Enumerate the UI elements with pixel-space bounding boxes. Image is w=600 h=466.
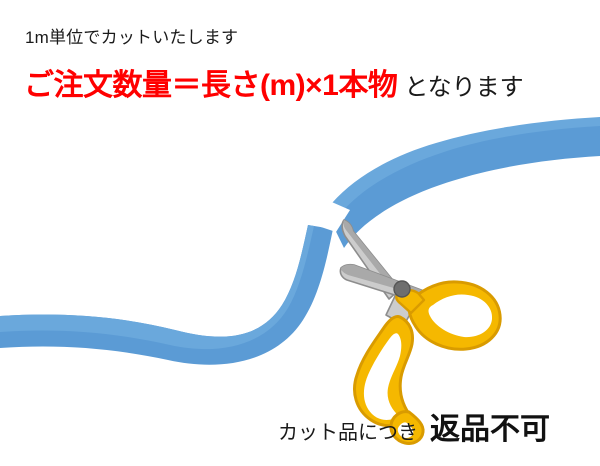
footer-emphasis: 返品不可 [430, 413, 550, 446]
footer-prefix: カット品につき [278, 422, 418, 444]
footer-note: カット品につき返品不可 [278, 412, 550, 448]
headline-line-2: ご注文数量＝長さ(m)×1本物となります [24, 68, 524, 104]
headline-emphasis-red: ご注文数量＝長さ(m)×1本物 [24, 69, 397, 102]
rope-right-segment [320, 117, 600, 248]
headline-tail: となります [404, 74, 523, 101]
scissors [340, 220, 500, 443]
rope-left-segment [0, 225, 333, 365]
scissors-pivot-icon [394, 281, 410, 297]
headline-line-1: 1m単位でカットいたします [25, 28, 238, 48]
poster-canvas: 1m単位でカットいたします ご注文数量＝長さ(m)×1本物となります カット品に… [0, 0, 600, 466]
